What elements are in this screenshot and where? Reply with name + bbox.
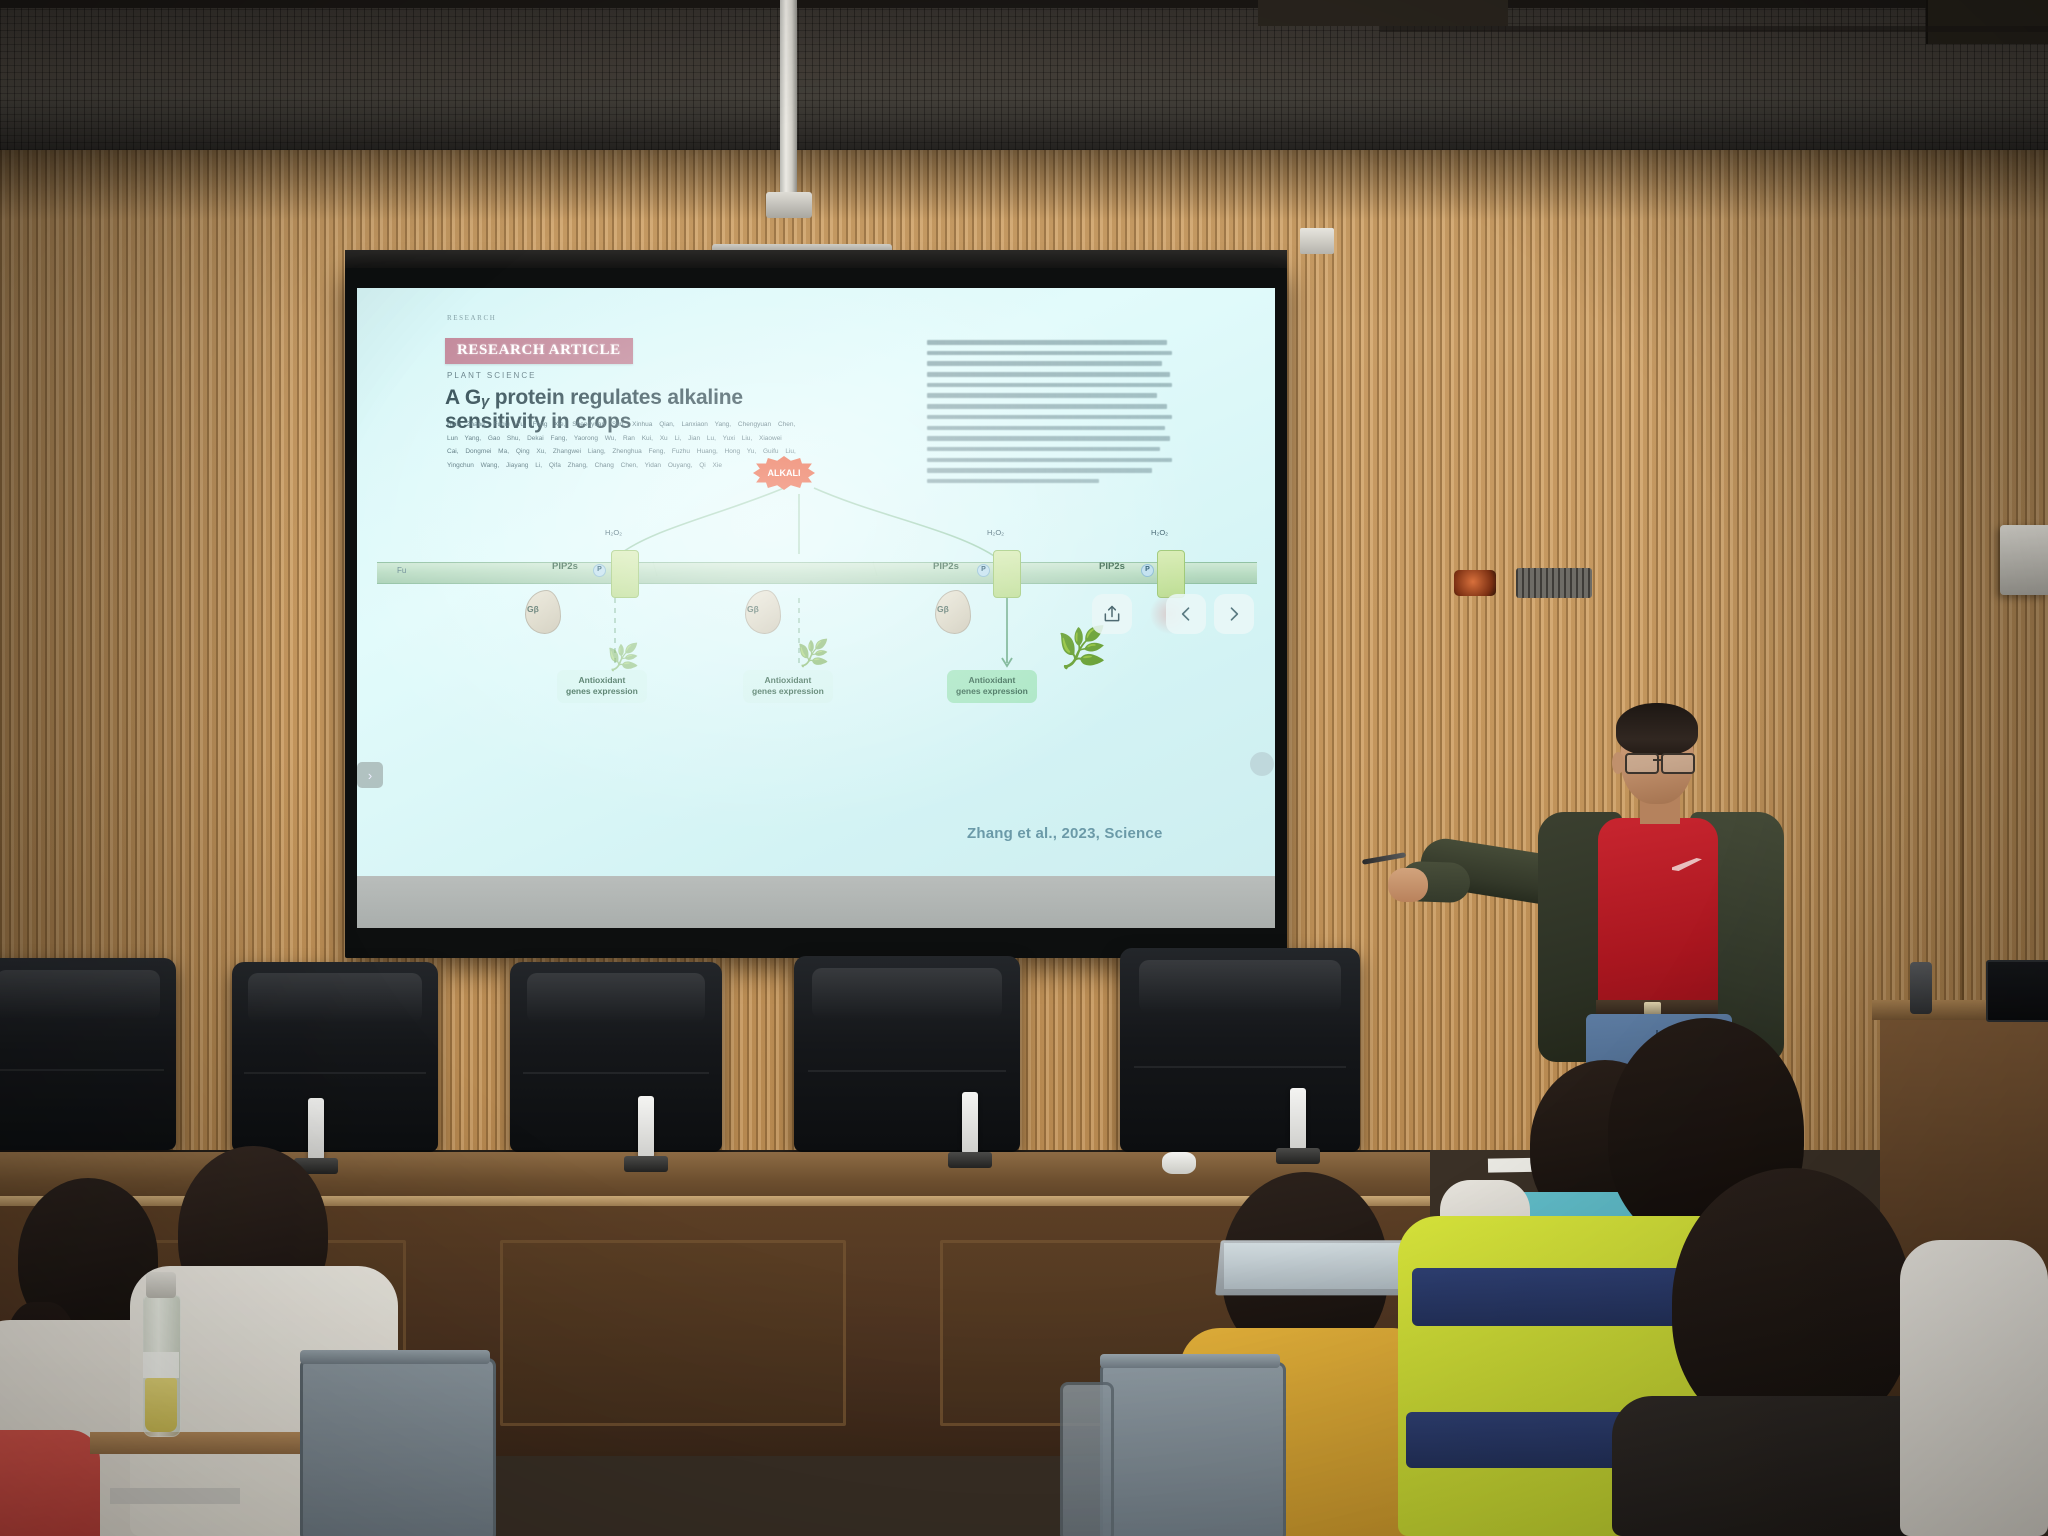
- microphone-base-3: [948, 1152, 992, 1168]
- projection-screen-surface: RESEARCH RESEARCH ARTICLE PLANT SCIENCE …: [357, 288, 1275, 928]
- g-beta-label-1: Gβ: [527, 604, 539, 614]
- chair-5[interactable]: [1120, 948, 1360, 1152]
- antioxidant-outcome-2-line1: Antioxidant: [752, 675, 824, 686]
- chevron-left-icon: [1176, 604, 1196, 624]
- microphone-base-4: [1276, 1148, 1320, 1164]
- eyeglass-lens-left: [1625, 753, 1659, 774]
- microphone-base-2: [624, 1156, 668, 1172]
- presentation-slide: RESEARCH RESEARCH ARTICLE PLANT SCIENCE …: [357, 288, 1275, 876]
- signalling-pathway-diagram: ALKALI Fu PIP2s H₂O₂ PIP2s H₂O₂ PIP2s H₂…: [357, 458, 1275, 788]
- projector-vent-slots: [1516, 568, 1592, 598]
- bottle-liquid: [145, 1378, 177, 1432]
- speaker-ear: [1612, 752, 1624, 774]
- wall-mounted-speaker: [2000, 525, 2048, 595]
- audience-seat-far-right[interactable]: [1060, 1382, 1114, 1536]
- ceiling-beam: [0, 0, 2048, 8]
- chair-2[interactable]: [232, 962, 438, 1152]
- viewer-toolbar: [357, 876, 1275, 928]
- pip2s-channel-3: [1157, 550, 1185, 598]
- pip2s-channel-2: [993, 550, 1021, 598]
- speaker-hand: [1388, 868, 1428, 902]
- projector-mount-pole: [780, 0, 797, 200]
- share-button[interactable]: [1092, 594, 1132, 634]
- screen-left-handle[interactable]: ›: [357, 762, 383, 788]
- microphone-4[interactable]: [1290, 1088, 1306, 1150]
- projector-mount-plate: [766, 192, 812, 218]
- desk-panel-2: [500, 1240, 846, 1426]
- audience-seat-rail-left: [300, 1350, 490, 1364]
- chair-1[interactable]: [0, 958, 176, 1150]
- laptop-screen: [1224, 1243, 1402, 1289]
- ceiling-vent-center: [1258, 0, 1508, 26]
- article-section-label: PLANT SCIENCE: [447, 371, 536, 380]
- pip2s-label-1: PIP2s: [552, 561, 578, 572]
- lectern-device: [1910, 962, 1932, 1014]
- bottle-tray: [110, 1488, 240, 1504]
- phospho-group-1: P: [593, 564, 606, 577]
- ceiling-vent-right: [1926, 0, 2048, 44]
- article-title-part-1: A G: [445, 386, 481, 409]
- g-beta-label-2: Gβ: [747, 604, 759, 614]
- audience-seat-rail-right: [1100, 1354, 1280, 1368]
- phospho-group-2: P: [977, 564, 990, 577]
- h2o2-label-3: H₂O₂: [1151, 528, 1168, 537]
- computer-mouse[interactable]: [1162, 1152, 1196, 1174]
- antioxidant-outcome-2: Antioxidant genes expression: [743, 670, 833, 703]
- pip2s-label-2: PIP2s: [933, 561, 959, 572]
- lecture-hall-scene: RESEARCH RESEARCH ARTICLE PLANT SCIENCE …: [0, 0, 2048, 1536]
- h2o2-label-2: H₂O₂: [987, 528, 1004, 537]
- screen-right-marker: [1250, 752, 1274, 776]
- antioxidant-outcome-1-line2: genes expression: [566, 686, 638, 697]
- chair-3[interactable]: [510, 962, 722, 1152]
- audience-body-1b: [0, 1430, 100, 1536]
- plant-icon-2: 🌿: [797, 640, 829, 666]
- ceiling-trim: [1380, 26, 2048, 32]
- phospho-group-3: P: [1141, 564, 1154, 577]
- speaker-hair: [1616, 703, 1698, 755]
- antioxidant-outcome-3-line2: genes expression: [956, 686, 1028, 697]
- pip2s-label-3: PIP2s: [1099, 561, 1125, 572]
- lectern-monitor: [1986, 960, 2048, 1022]
- microphone-3[interactable]: [962, 1092, 978, 1154]
- pip2s-channel-1: [611, 550, 639, 598]
- microphone-1[interactable]: [308, 1098, 324, 1160]
- article-title-gamma: γ: [481, 393, 489, 410]
- plasma-membrane: [377, 562, 1257, 584]
- antioxidant-outcome-1: Antioxidant genes expression: [557, 670, 647, 703]
- audience-seat-left[interactable]: [300, 1358, 496, 1536]
- plant-icon-1: 🌿: [607, 644, 639, 670]
- membrane-left-label: Fu: [397, 566, 406, 575]
- audience-seat-right[interactable]: [1100, 1362, 1286, 1536]
- eyeglass-lens-right: [1661, 753, 1695, 774]
- antioxidant-outcome-3: Antioxidant genes expression: [947, 670, 1037, 703]
- slide-citation: Zhang et al., 2023, Science: [967, 825, 1163, 842]
- wall-mounted-sensor: [1300, 228, 1334, 254]
- next-slide-button[interactable]: [1214, 594, 1254, 634]
- article-running-head: RESEARCH: [447, 314, 496, 322]
- share-icon: [1102, 604, 1122, 624]
- g-beta-label-3: Gβ: [937, 604, 949, 614]
- projector-lens: [1454, 570, 1496, 596]
- chevron-right-icon: [1224, 604, 1244, 624]
- bottle-label: [143, 1352, 179, 1378]
- ceiling-shadow: [0, 96, 2048, 154]
- previous-slide-button[interactable]: [1166, 594, 1206, 634]
- bottle-cap: [146, 1272, 176, 1298]
- plant-icon-3: 🌿: [1057, 628, 1107, 668]
- pathway-connectors: [357, 458, 1275, 788]
- eyeglass-bridge: [1653, 759, 1663, 761]
- research-article-banner: RESEARCH ARTICLE: [445, 338, 633, 364]
- antioxidant-outcome-1-line1: Antioxidant: [566, 675, 638, 686]
- antioxidant-outcome-2-line2: genes expression: [752, 686, 824, 697]
- antioxidant-outcome-3-line1: Antioxidant: [956, 675, 1028, 686]
- h2o2-label-1: H₂O₂: [605, 528, 622, 537]
- audience-body-7: [1900, 1240, 2048, 1536]
- chair-4[interactable]: [794, 956, 1020, 1152]
- wall-top-shading: [0, 150, 2048, 220]
- microphone-2[interactable]: [638, 1096, 654, 1158]
